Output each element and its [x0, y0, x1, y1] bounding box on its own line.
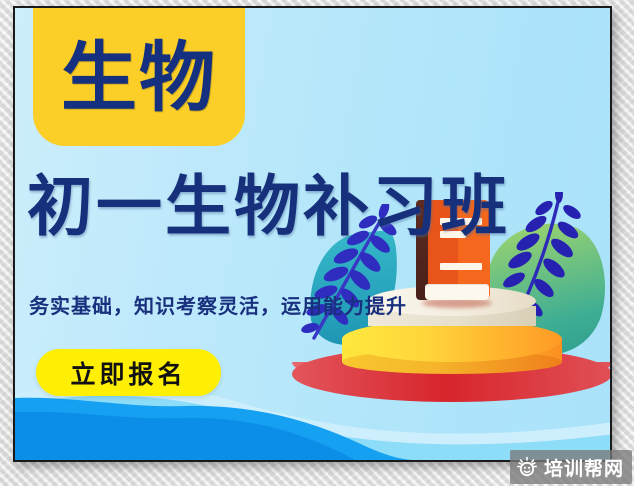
image-background-mat: 生物 初一生物补习班 务实基础，知识考察灵活，运用能力提升 立即报名 培训帮网 [0, 0, 634, 486]
enroll-now-button-label: 立即报名 [70, 355, 186, 391]
watermark-text: 培训帮网 [544, 454, 624, 481]
enroll-now-button[interactable]: 立即报名 [36, 349, 221, 396]
book-cover-line [440, 263, 482, 270]
subject-badge-label: 生物 [61, 24, 217, 116]
subject-badge: 生物 [33, 6, 245, 146]
watermark: 培训帮网 [510, 450, 632, 484]
book-pages [425, 284, 489, 300]
sun-smiley-icon [516, 456, 538, 478]
page-title: 初一生物补习班 [27, 174, 607, 240]
page-subtitle: 务实基础，知识考察灵活，运用能力提升 [29, 290, 407, 319]
course-poster: 生物 初一生物补习班 务实基础，知识考察灵活，运用能力提升 立即报名 [13, 6, 612, 462]
